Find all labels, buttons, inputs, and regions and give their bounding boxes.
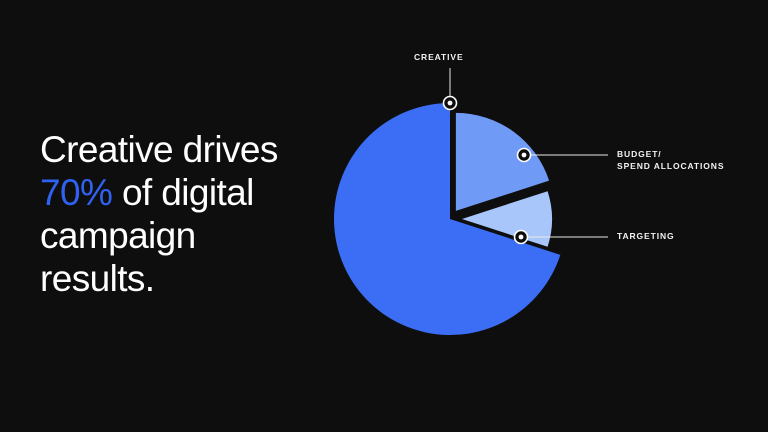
pie-chart: CREATIVE BUDGET/ SPEND ALLOCATIONS TARGE… [0,0,768,432]
pie-chart-svg [0,0,768,432]
callout-label-creative: CREATIVE [414,52,464,64]
marker-budget[interactable] [518,149,531,162]
marker-creative[interactable] [444,97,457,110]
callout-label-targeting: TARGETING [617,231,675,243]
callout-label-budget: BUDGET/ SPEND ALLOCATIONS [617,149,724,172]
marker-targeting[interactable] [515,231,528,244]
slide-canvas: Creative drives 70% of digital campaign … [0,0,768,432]
